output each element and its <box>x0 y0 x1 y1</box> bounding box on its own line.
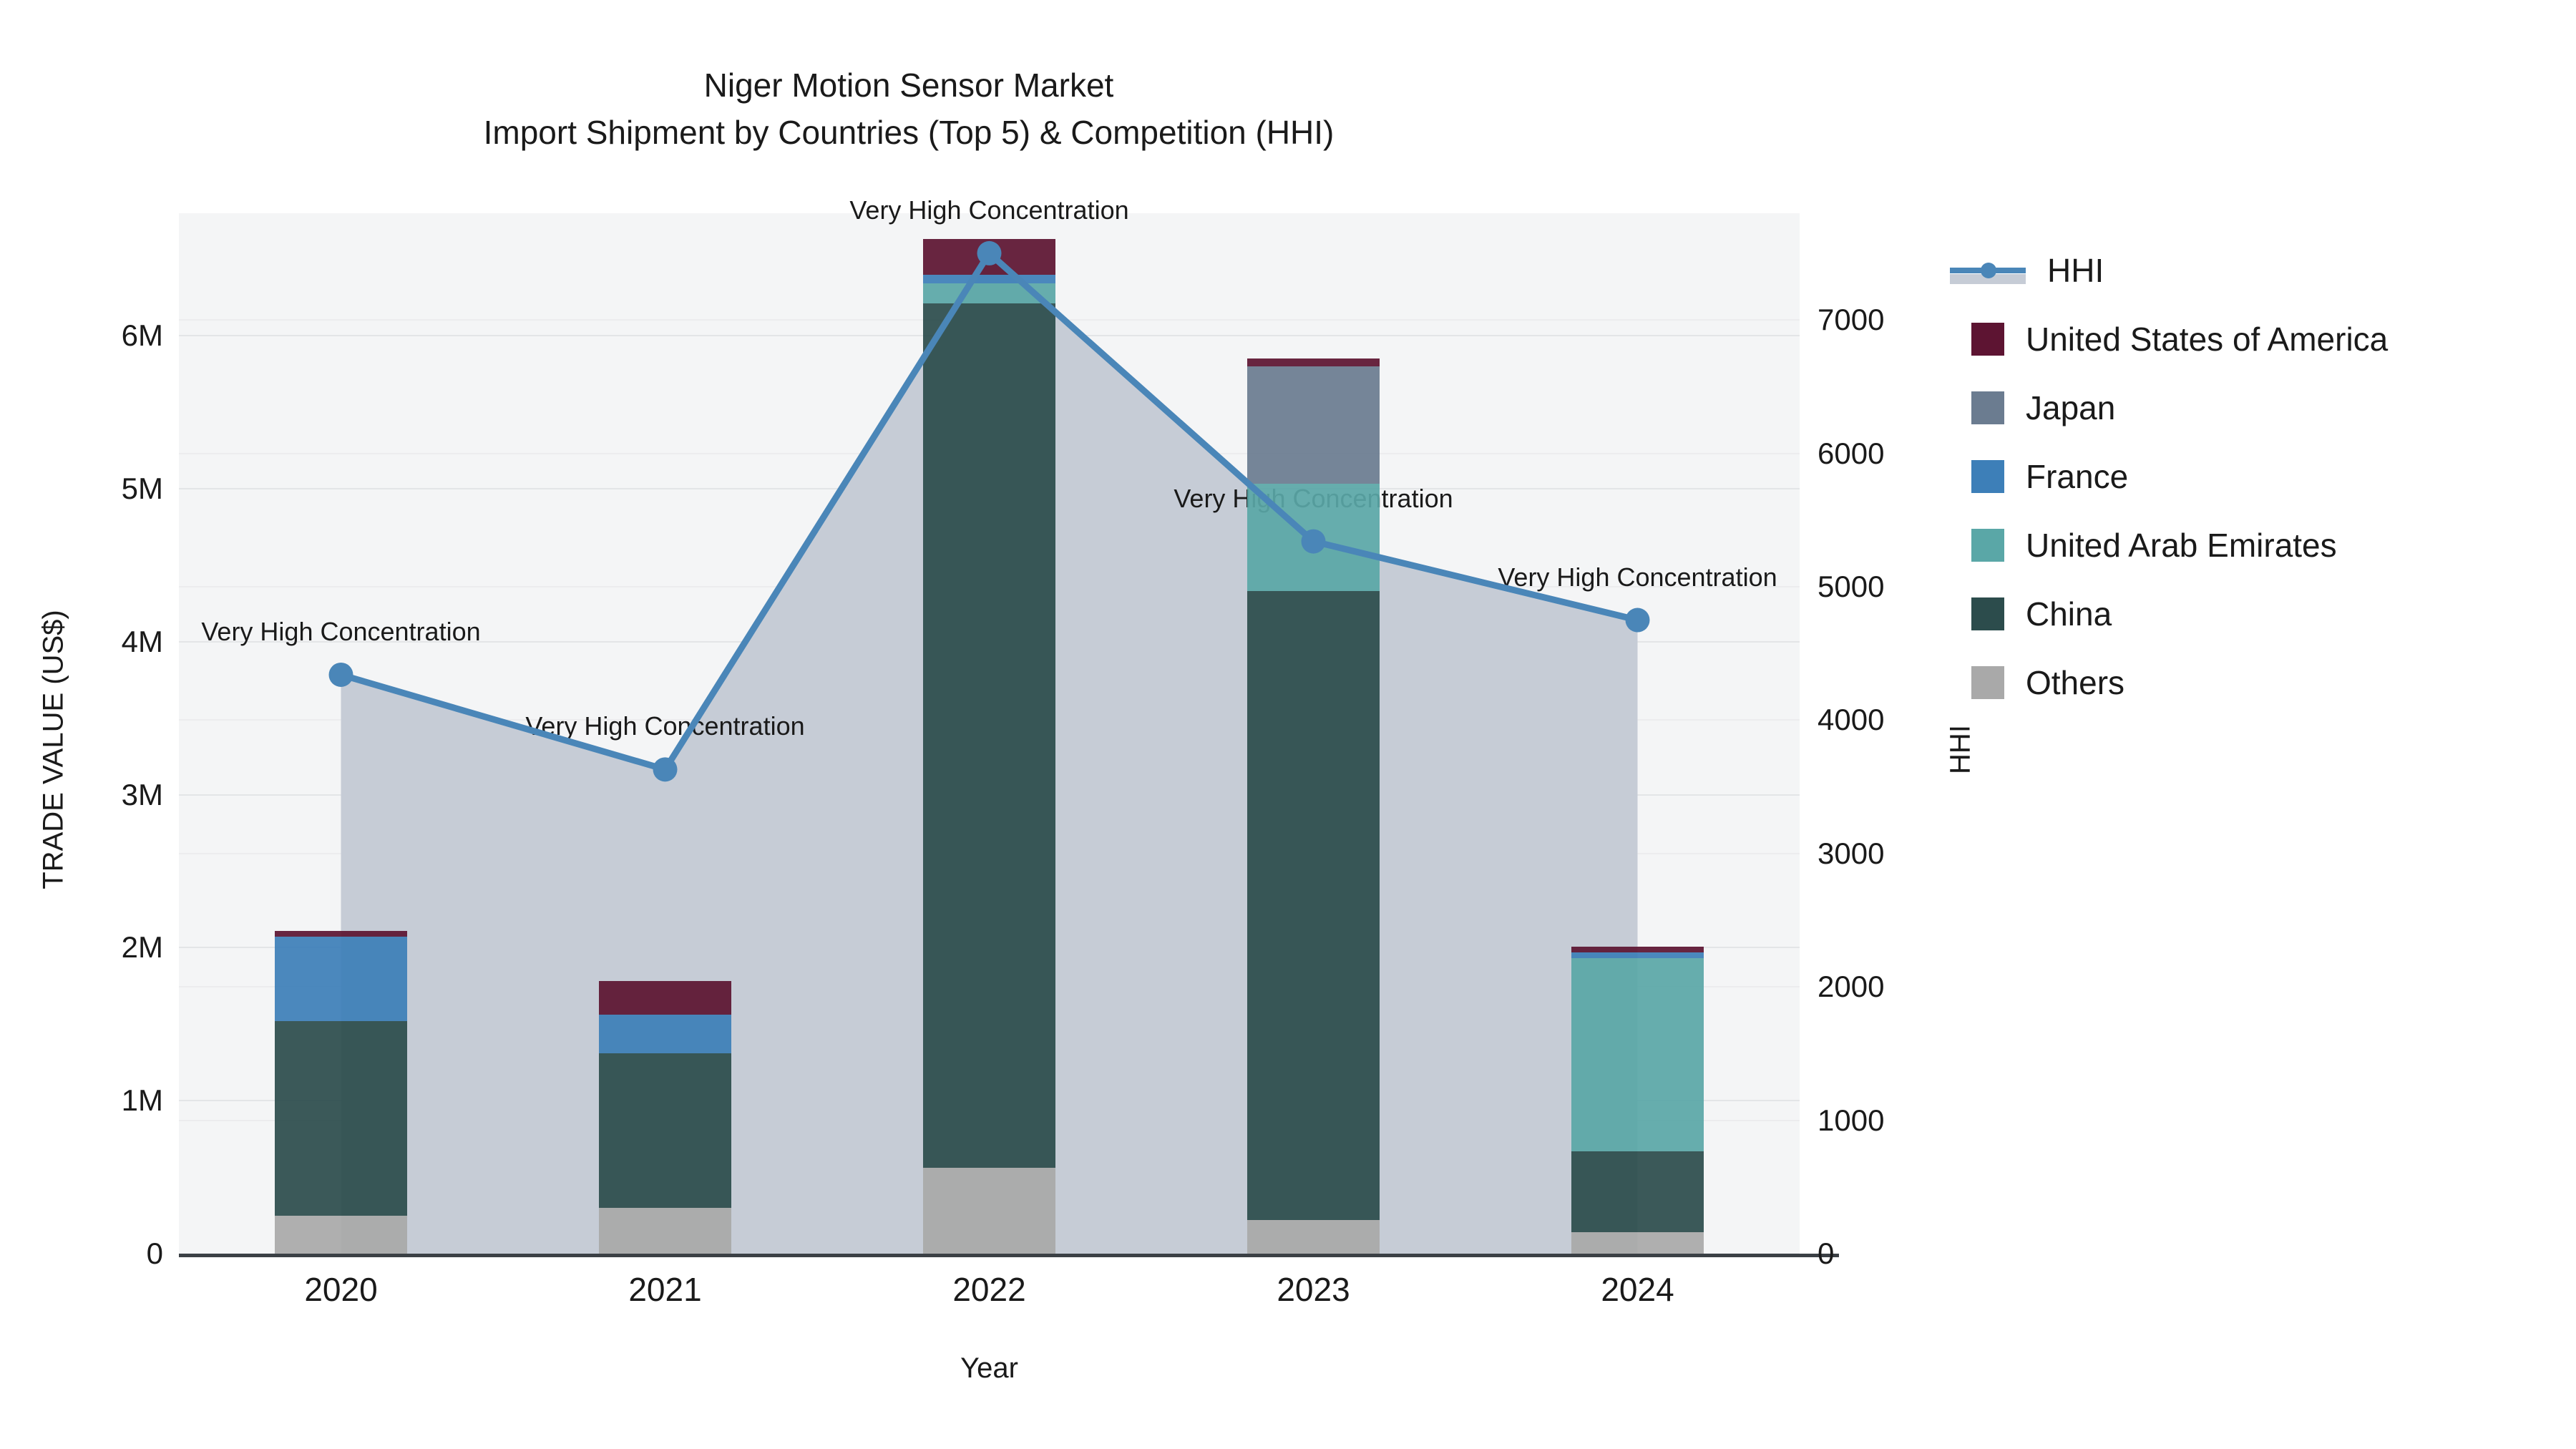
chart-legend: HHIUnited States of AmericaJapanFranceUn… <box>1950 236 2537 717</box>
hhi-marker[interactable] <box>1302 530 1326 554</box>
legend-item-france[interactable]: France <box>1950 442 2537 511</box>
legend-item-united-arab-emirates[interactable]: United Arab Emirates <box>1950 511 2537 580</box>
legend-item-label: France <box>2026 457 2128 496</box>
y-axis-left-tick-label: 6M <box>122 318 163 353</box>
legend-item-hhi[interactable]: HHI <box>1950 236 2537 305</box>
x-axis-tick-label-2022: 2022 <box>952 1270 1025 1309</box>
chart-title-block: Niger Motion Sensor Market Import Shipme… <box>0 62 1818 156</box>
hhi-marker[interactable] <box>977 241 1002 265</box>
legend-item-china[interactable]: China <box>1950 580 2537 648</box>
y-axis-left-tick-label: 5M <box>122 472 163 506</box>
y-axis-right-tick-label: 2000 <box>1818 970 1884 1004</box>
legend-line-key-icon <box>1950 254 2026 287</box>
y-axis-left-tick-label: 1M <box>122 1083 163 1118</box>
x-axis-tick-label-2024: 2024 <box>1601 1270 1674 1309</box>
y-axis-right-tick-label: 5000 <box>1818 570 1884 604</box>
legend-item-label: China <box>2026 595 2112 633</box>
chart-title: Niger Motion Sensor Market <box>0 62 1818 109</box>
y-axis-right-tick-label: 0 <box>1818 1236 1834 1271</box>
legend-swatch-icon <box>1971 666 2004 699</box>
legend-item-japan[interactable]: Japan <box>1950 374 2537 442</box>
legend-swatch-icon <box>1971 460 2004 493</box>
chart-canvas: Niger Motion Sensor Market Import Shipme… <box>0 0 2576 1449</box>
y-axis-right-tick-label: 6000 <box>1818 436 1884 471</box>
hhi-marker[interactable] <box>1626 608 1650 633</box>
y-axis-left-tick-label: 2M <box>122 930 163 965</box>
hhi-line-overlay <box>179 213 1800 1254</box>
y-axis-left-tick-label: 4M <box>122 625 163 659</box>
legend-item-label: HHI <box>2047 251 2104 290</box>
x-axis-line <box>179 1254 1839 1257</box>
legend-swatch-icon <box>1971 597 2004 630</box>
legend-swatch-icon <box>1971 529 2004 562</box>
hhi-marker[interactable] <box>653 757 678 781</box>
legend-swatch-icon <box>1971 323 2004 356</box>
y-axis-left-label: TRADE VALUE (US$) <box>38 499 70 1000</box>
legend-item-united-states-of-america[interactable]: United States of America <box>1950 305 2537 374</box>
x-axis-tick-label-2023: 2023 <box>1277 1270 1350 1309</box>
chart-subtitle: Import Shipment by Countries (Top 5) & C… <box>0 109 1818 156</box>
legend-item-label: United States of America <box>2026 320 2388 358</box>
y-axis-left-tick-label: 0 <box>147 1236 163 1271</box>
hhi-line <box>341 253 1638 769</box>
legend-swatch-icon <box>1971 391 2004 424</box>
x-axis-tick-label-2021: 2021 <box>628 1270 701 1309</box>
legend-item-others[interactable]: Others <box>1950 648 2537 717</box>
y-axis-left-tick-label: 3M <box>122 778 163 812</box>
y-axis-right-tick-label: 3000 <box>1818 836 1884 871</box>
x-axis-label: Year <box>179 1352 1800 1385</box>
legend-item-label: Others <box>2026 663 2124 702</box>
y-axis-right-tick-label: 7000 <box>1818 303 1884 337</box>
legend-item-label: Japan <box>2026 389 2115 427</box>
x-axis-tick-label-2020: 2020 <box>304 1270 377 1309</box>
y-axis-right-tick-label: 4000 <box>1818 703 1884 737</box>
legend-item-label: United Arab Emirates <box>2026 526 2337 565</box>
hhi-marker[interactable] <box>329 663 353 687</box>
y-axis-right-tick-label: 1000 <box>1818 1103 1884 1138</box>
